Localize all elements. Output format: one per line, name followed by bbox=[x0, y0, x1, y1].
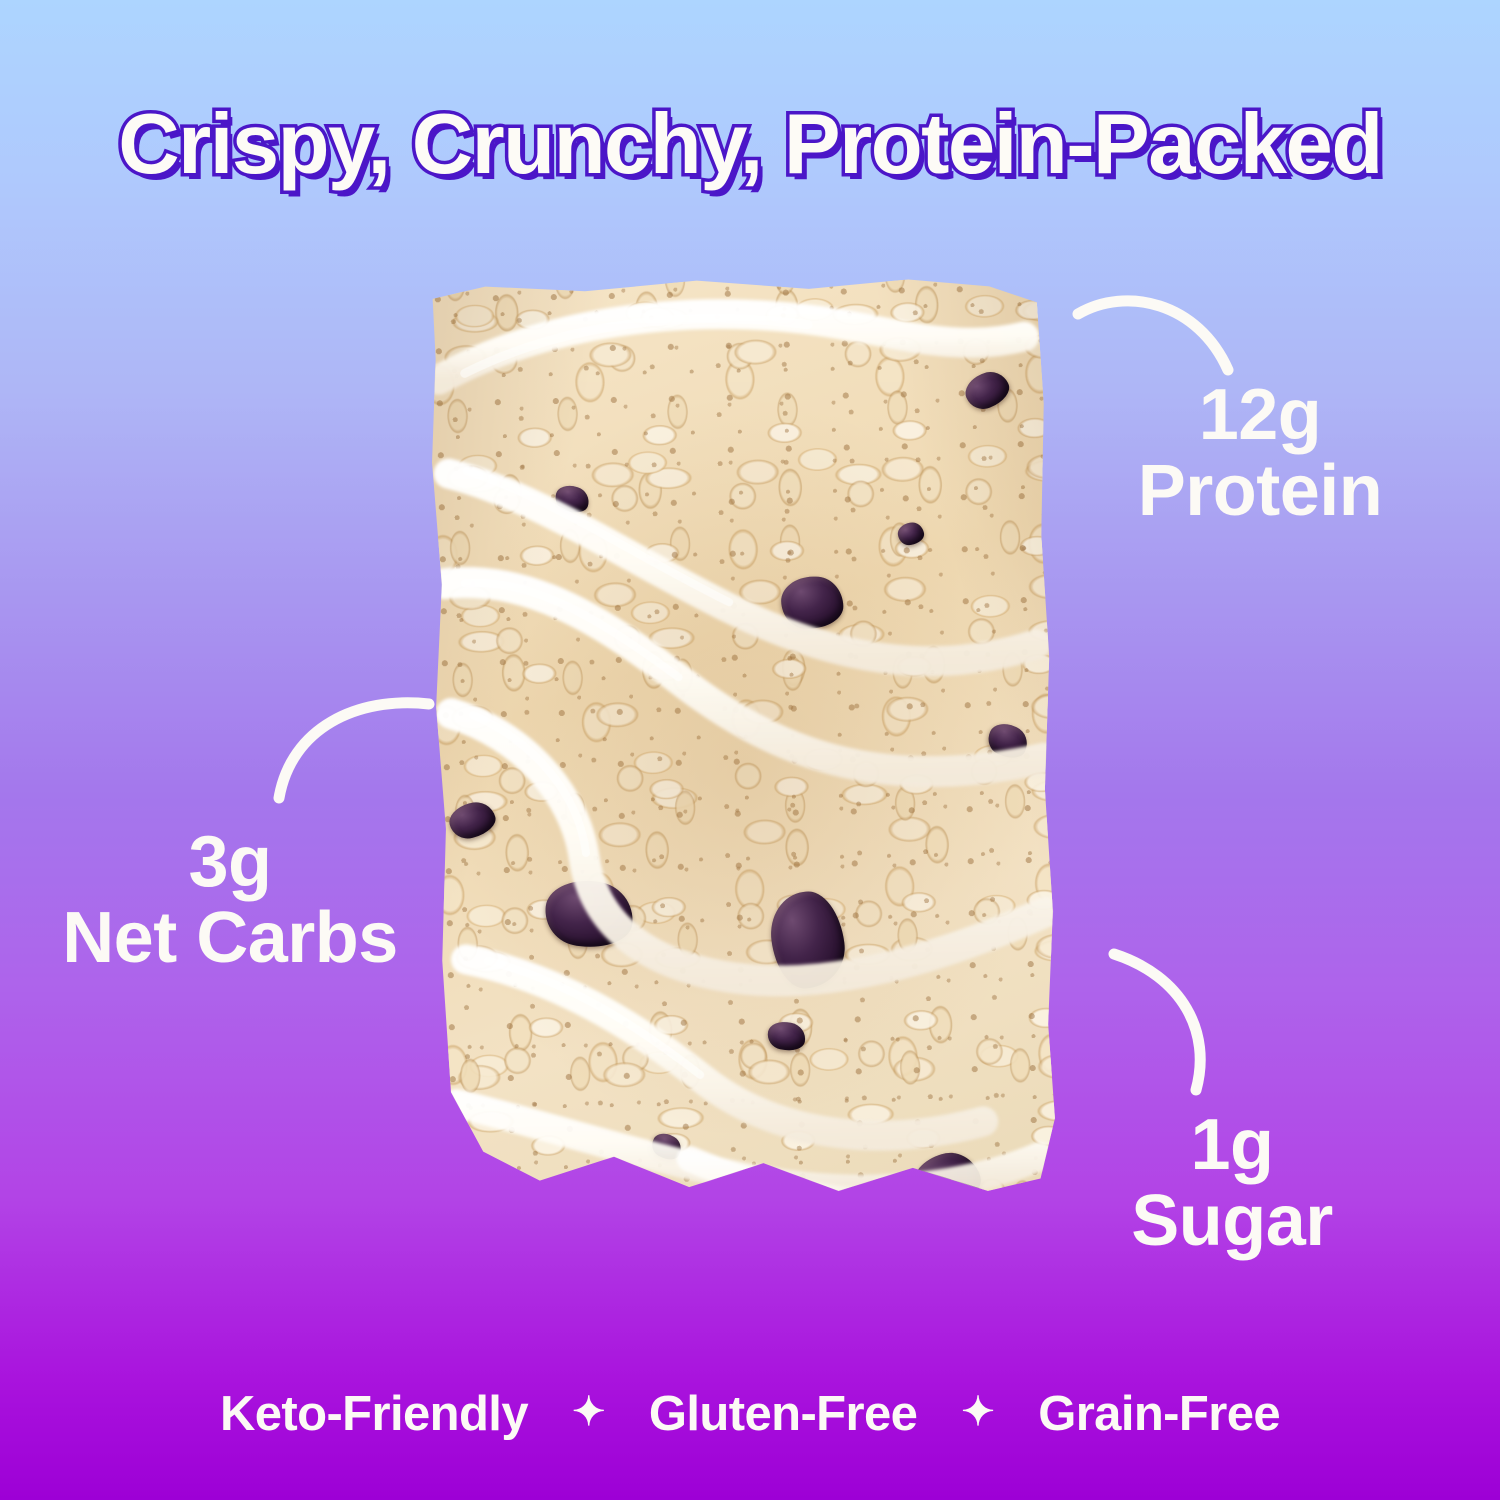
badge-grain-free: Grain-Free bbox=[1038, 1386, 1280, 1442]
callout-sugar-label: Sugar bbox=[1062, 1184, 1402, 1260]
callout-protein-value: 12g bbox=[1075, 378, 1445, 454]
page-headline: Crispy, Crunchy, Protein-Packed bbox=[0, 96, 1500, 194]
icing-drizzle bbox=[423, 272, 1063, 1224]
callout-netcarbs: 3g Net Carbs bbox=[20, 825, 440, 976]
badge-gluten-free: Gluten-Free bbox=[649, 1386, 917, 1442]
four-point-sparkle-icon: ✦ bbox=[572, 1392, 605, 1432]
arc-pointer-sugar-icon bbox=[1090, 948, 1235, 1103]
product-image bbox=[423, 272, 1063, 1224]
callout-protein-label: Protein bbox=[1075, 454, 1445, 530]
badge-keto-friendly: Keto-Friendly bbox=[220, 1386, 528, 1442]
callout-sugar-value: 1g bbox=[1062, 1108, 1402, 1184]
callout-netcarbs-label: Net Carbs bbox=[20, 901, 440, 977]
callout-netcarbs-value: 3g bbox=[20, 825, 440, 901]
feature-badge-row: Keto-Friendly ✦ Gluten-Free ✦ Grain-Free bbox=[0, 1386, 1500, 1442]
arc-pointer-netcarbs-icon bbox=[265, 690, 440, 810]
four-point-sparkle-icon: ✦ bbox=[961, 1392, 994, 1432]
protein-bar-body bbox=[423, 272, 1063, 1224]
callout-sugar: 1g Sugar bbox=[1062, 1108, 1402, 1259]
callout-protein: 12g Protein bbox=[1075, 378, 1445, 529]
